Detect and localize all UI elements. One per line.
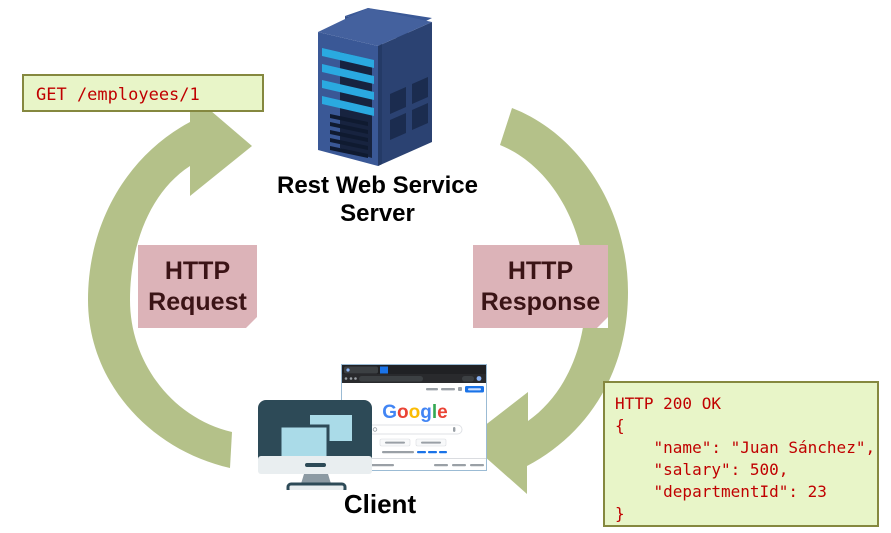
http-request-label: HTTP Request	[138, 245, 257, 328]
server-caption-line1: Rest Web Service	[245, 172, 510, 200]
http-response-label-line1: HTTP	[508, 256, 573, 287]
corner-fold	[597, 317, 608, 328]
desktop-monitor-icon	[252, 360, 382, 490]
rest-service-diagram: Rest Web Service Server	[0, 0, 891, 533]
http-request-label-line2: Request	[148, 287, 247, 318]
get-request-box: GET /employees/1	[22, 74, 264, 112]
server-caption: Rest Web Service Server	[245, 172, 510, 229]
server-caption-line2: Server	[245, 200, 510, 228]
http-response-label: HTTP Response	[473, 245, 608, 328]
http-response-label-line2: Response	[481, 287, 600, 318]
http-request-label-line1: HTTP	[165, 256, 230, 287]
server-tower-icon	[300, 8, 450, 183]
corner-fold	[246, 317, 257, 328]
client-caption: Client	[300, 489, 460, 520]
svg-text:Google: Google	[382, 402, 447, 423]
http-response-payload-box: HTTP 200 OK { "name": "Juan Sánchez", "s…	[603, 381, 879, 527]
